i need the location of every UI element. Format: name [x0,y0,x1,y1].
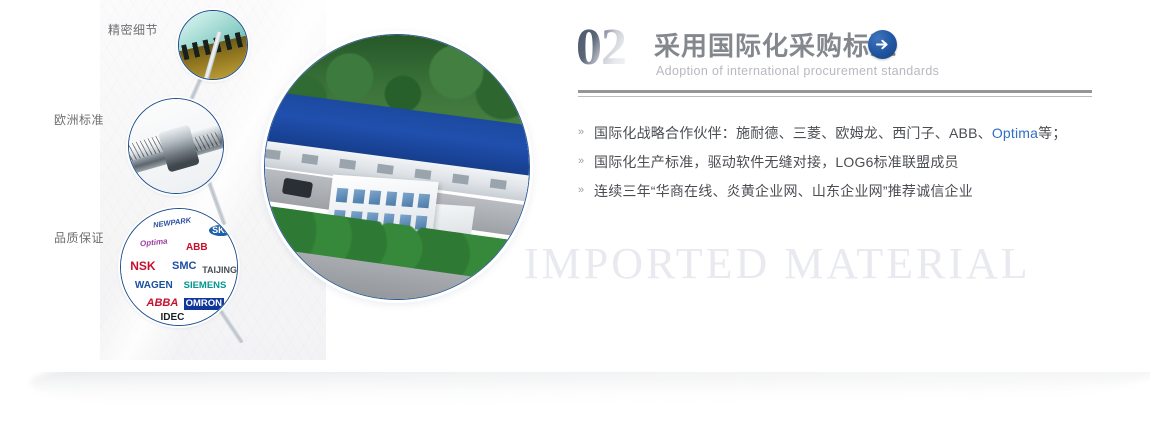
bullet-row: »国际化生产标准，驱动软件无缝对接，LOG6标准联盟成员 [578,147,1098,176]
precision-detail-artwork [179,11,247,79]
feature-bullet-list: »国际化战略合作伙伴：施耐德、三菱、欧姆龙、西门子、ABB、Optima等；»国… [578,118,1098,205]
label-quality-assurance: 品质保证 [54,232,104,244]
arrow-right-circle-icon[interactable] [868,30,897,59]
right-content-column: 02 采用国际化采购标准 Adoption of international p… [576,0,1116,430]
brand-logo-nsk: NSK [130,260,155,272]
bullet-row: »国际化战略合作伙伴：施耐德、三菱、欧姆龙、西门子、ABB、Optima等； [578,118,1098,147]
bullet-segment: 连续三年“华商在线、炎黄企业网、山东企业网”推荐诚信企业 [594,183,973,199]
bullet-text: 国际化生产标准，驱动软件无缝对接，LOG6标准联盟成员 [594,152,959,172]
brand-logo-taijing: TAIJING [202,266,237,275]
magnifier-quality-assurance: NEWPARKSKFOptimaABBNSKSMCTAIJINGWAGENSIE… [120,208,238,326]
bullet-text: 连续三年“华商在线、炎黄企业网、山东企业网”推荐诚信企业 [594,181,973,201]
brand-logo-siemens: SIEMENS [184,281,227,291]
factory-aerial-photo [264,34,530,300]
magnifier-precision-detail [178,10,248,80]
label-precision-detail: 精密细节 [108,24,158,36]
brand-logo-omron: OMRON [184,298,224,310]
brand-logo-wagen: WAGEN [135,281,173,291]
bullet-chevron-icon: » [578,185,594,196]
header-divider [578,90,1092,97]
brand-logo-smc: SMC [172,261,196,272]
divider-thin-rule [578,96,1092,97]
bullet-text: 国际化战略合作伙伴：施耐德、三菱、欧姆龙、西门子、ABB、Optima等； [594,123,1067,143]
watermark-text: IMPORTED MATERIAL [524,238,1031,289]
label-european-standard: 欧洲标准 [54,114,104,126]
bullet-highlight: Optima [992,125,1038,141]
bullet-chevron-icon: » [578,127,594,138]
brand-logo-idec: IDEC [160,313,184,323]
page-title: 采用国际化采购标准 [654,26,897,63]
promo-banner: NEWPARKSKFOptimaABBNSKSMCTAIJINGWAGENSIE… [0,0,1150,430]
section-number: 02 [576,22,626,74]
bullet-chevron-icon: » [578,156,594,167]
brand-logo-abb: ABB [186,243,208,253]
magnifier-european-standard [128,98,224,194]
brand-logo-abba: ABBA [147,298,179,309]
bullet-segment: 国际化生产标准，驱动软件无缝对接，LOG6标准联盟成员 [594,154,959,170]
bullet-segment: 国际化战略合作伙伴：施耐德、三菱、欧姆龙、西门子、ABB、 [594,125,992,141]
bullet-row: »连续三年“华商在线、炎黄企业网、山东企业网”推荐诚信企业 [578,176,1098,205]
section-header: 02 采用国际化采购标准 Adoption of international p… [576,22,1116,92]
page-subtitle: Adoption of international procurement st… [656,64,939,78]
bullet-segment: 等； [1038,125,1066,141]
brand-logo-skf: SKF [209,225,233,236]
